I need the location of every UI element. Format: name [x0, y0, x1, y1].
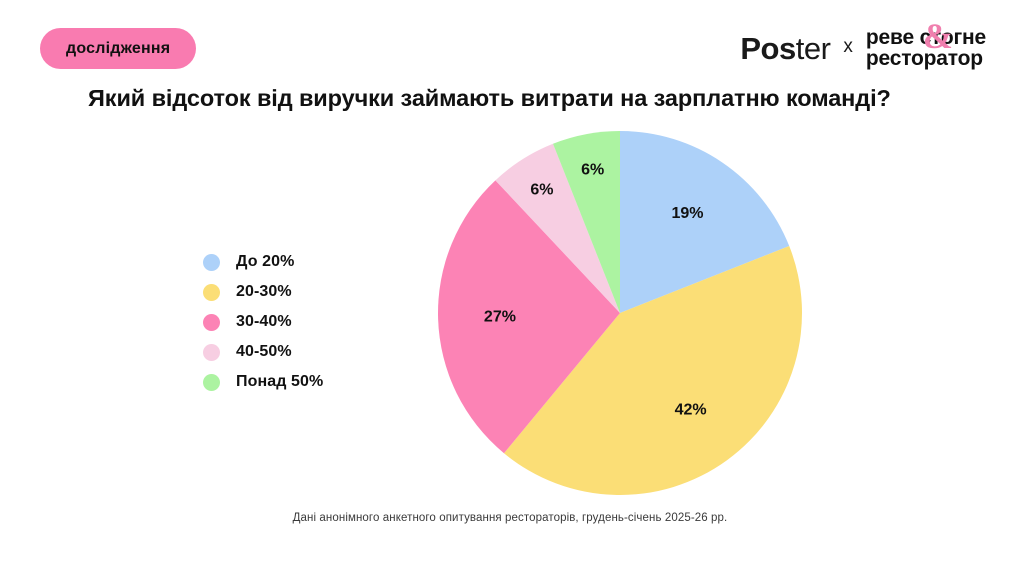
legend-item: До 20% — [203, 247, 323, 277]
legend-item-label: До 20% — [236, 253, 294, 271]
legend-item-label: 20-30% — [236, 283, 292, 301]
pie-slice-label: 27% — [484, 308, 516, 325]
pie-slice-label: 6% — [581, 161, 604, 178]
legend-item: Понад 50% — [203, 367, 323, 397]
legend-item-label: 40-50% — [236, 343, 292, 361]
page-title: Який відсоток від виручки займають витра… — [88, 85, 948, 112]
legend-item-label: Понад 50% — [236, 373, 323, 391]
legend-color-swatch-icon — [203, 284, 220, 301]
legend-color-swatch-icon — [203, 344, 220, 361]
partner-logo-line1: реве стогне — [866, 27, 986, 48]
pie-chart: 19%42%27%6%6% — [437, 130, 803, 496]
legend-item: 20-30% — [203, 277, 323, 307]
partner-logo: реве стогне ресторатор & — [866, 27, 986, 70]
pie-slice-label: 19% — [672, 205, 704, 222]
legend-color-swatch-icon — [203, 254, 220, 271]
pie-slice-label: 42% — [675, 402, 707, 419]
research-badge-label: дослідження — [66, 40, 170, 58]
chart-legend: До 20% 20-30% 30-40% 40-50% Понад 50% — [203, 247, 323, 397]
legend-item: 30-40% — [203, 307, 323, 337]
pie-slice-label: 6% — [530, 182, 553, 199]
poster-logo: Poster — [740, 33, 830, 64]
brand-lockup: Poster x реве стогне ресторатор & — [740, 27, 986, 70]
poster-logo-light: ter — [796, 31, 831, 66]
collab-separator: x — [843, 36, 853, 60]
partner-logo-line2: ресторатор — [866, 48, 986, 69]
research-badge: дослідження — [40, 28, 196, 69]
pie-chart-svg: 19%42%27%6%6% — [437, 130, 803, 496]
legend-item-label: 30-40% — [236, 313, 292, 331]
poster-logo-bold: Pos — [740, 31, 795, 66]
legend-item: 40-50% — [203, 337, 323, 367]
source-caption: Дані анонімного анкетного опитування рес… — [0, 512, 1020, 524]
legend-color-swatch-icon — [203, 314, 220, 331]
infographic-slide: дослідження Poster x реве стогне рестора… — [0, 0, 1020, 574]
legend-color-swatch-icon — [203, 374, 220, 391]
